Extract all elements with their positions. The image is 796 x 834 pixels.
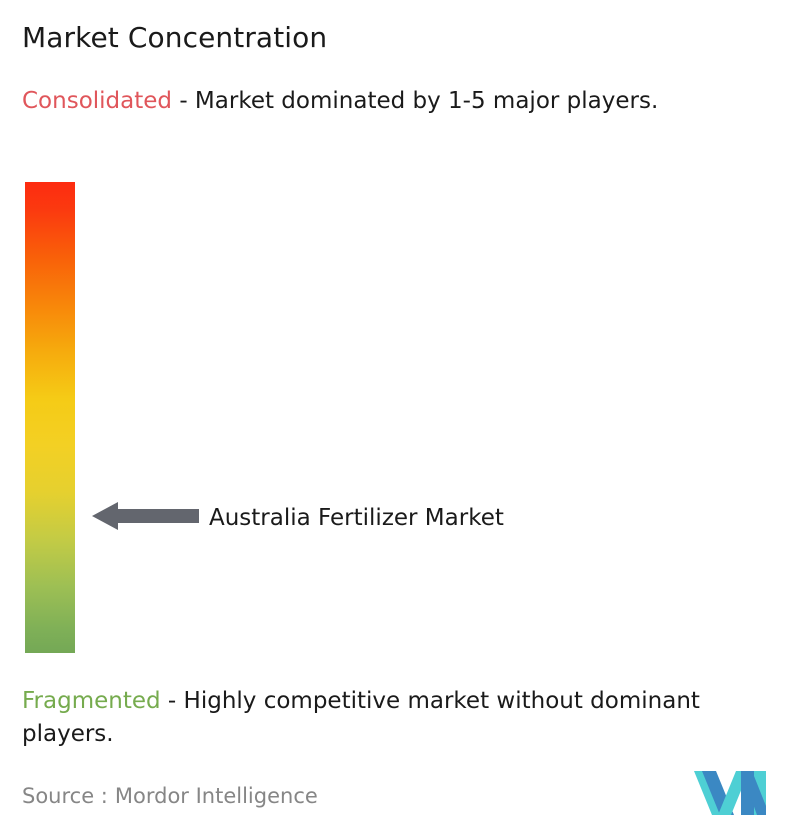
market-marker: Australia Fertilizer Market <box>92 502 504 534</box>
legend-consolidated-keyword: Consolidated <box>22 88 172 114</box>
source-note: Source :Mordor Intelligence <box>22 781 318 811</box>
source-label: Source : <box>22 784 108 808</box>
legend-fragmented: Fragmented - Highly competitive market w… <box>22 685 792 751</box>
legend-consolidated: Consolidated - Market dominated by 1-5 m… <box>22 85 774 118</box>
market-marker-label: Australia Fertilizer Market <box>209 502 504 534</box>
mordor-intelligence-logo <box>694 768 766 818</box>
arrow-left-icon <box>92 501 199 535</box>
concentration-gradient-bar <box>25 182 75 653</box>
legend-fragmented-keyword: Fragmented <box>22 688 161 714</box>
source-value: Mordor Intelligence <box>115 784 318 808</box>
legend-consolidated-description: - Market dominated by 1-5 major players. <box>172 88 658 114</box>
page-title: Market Concentration <box>22 20 327 56</box>
